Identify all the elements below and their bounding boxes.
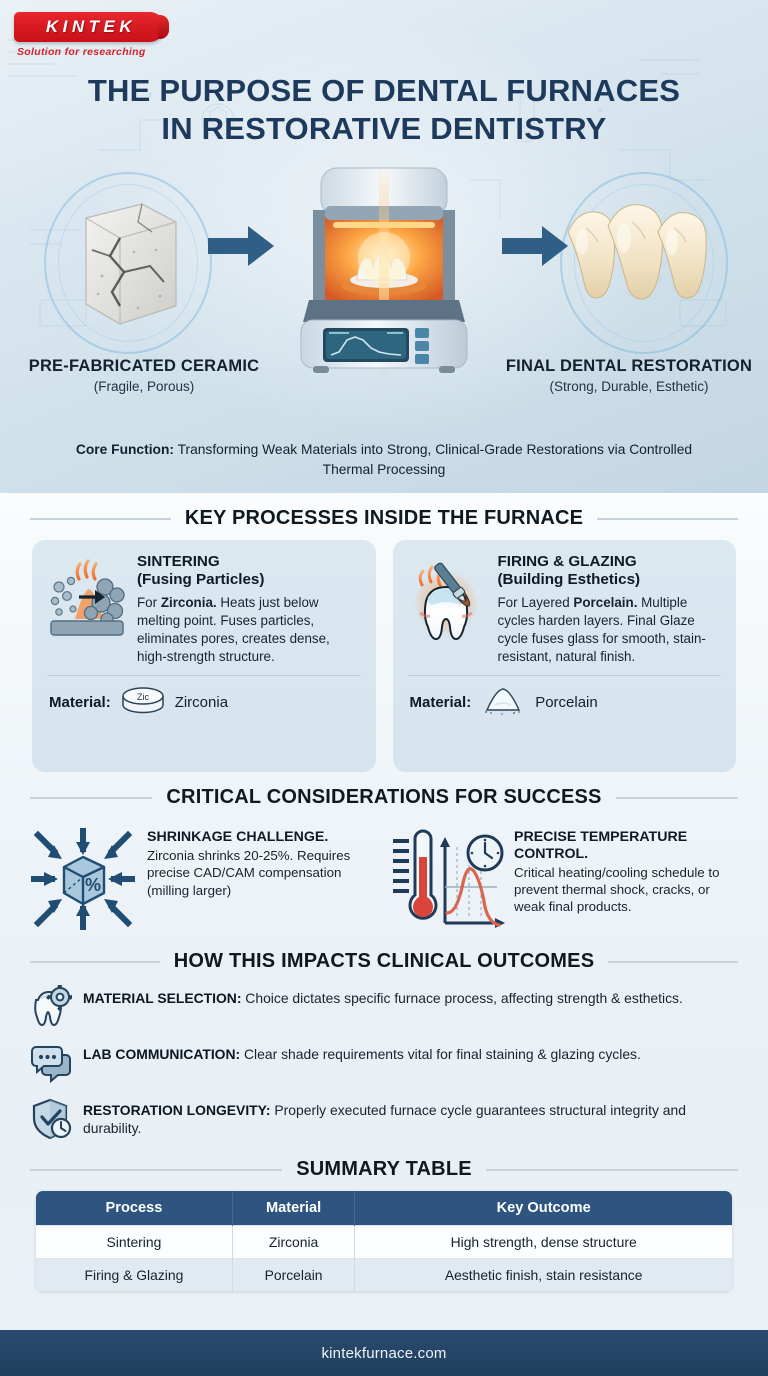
process-card-sintering: SINTERING (Fusing Particles) For Zirconi… <box>32 540 376 772</box>
footer-url[interactable]: kintekfurnace.com <box>321 1345 446 1362</box>
right-subcaption: (Strong, Durable, Esthetic) <box>504 379 754 394</box>
right-caption-block: FINAL DENTAL RESTORATION (Strong, Durabl… <box>504 356 754 394</box>
cell-material: Porcelain <box>232 1259 354 1292</box>
material-label: Material: <box>49 694 111 711</box>
summary-heading: SUMMARY TABLE <box>296 1158 472 1181</box>
divider-line-left <box>30 1169 282 1171</box>
considerations-heading: CRITICAL CONSIDERATIONS FOR SUCCESS <box>166 786 601 809</box>
sintering-body-bold: Zirconia. <box>161 595 217 610</box>
transform-arrow-left-icon <box>208 224 274 268</box>
transform-arrow-right-icon <box>502 224 568 268</box>
table-row: Sintering Zirconia High strength, dense … <box>36 1226 732 1259</box>
restoration-longevity-text: RESTORATION LONGEVITY: Properly executed… <box>83 1097 738 1138</box>
sintering-body: For Zirconia. Heats just below melting p… <box>137 594 363 665</box>
cell-key-outcome: High strength, dense structure <box>355 1226 732 1259</box>
table-header-row: Process Material Key Outcome <box>36 1191 732 1226</box>
divider-line-left <box>30 797 152 799</box>
divider-line-right <box>616 797 738 799</box>
material-selection-text: MATERIAL SELECTION: Choice dictates spec… <box>83 985 738 1007</box>
section-header-summary: SUMMARY TABLE <box>0 1158 768 1181</box>
restoration-longevity-label: RESTORATION LONGEVITY: <box>83 1102 271 1118</box>
material-selection-body: Choice dictates specific furnace process… <box>241 990 682 1006</box>
left-subcaption: (Fragile, Porous) <box>24 379 264 394</box>
outcomes-list: MATERIAL SELECTION: Choice dictates spec… <box>0 983 768 1144</box>
sintering-title-line-2: (Fusing Particles) <box>137 571 363 589</box>
divider-line-left <box>30 961 160 963</box>
firing-title: FIRING & GLAZING (Building Esthetics) <box>498 553 724 589</box>
page-title: THE PURPOSE OF DENTAL FURNACES IN RESTOR… <box>0 72 768 148</box>
final-restoration-teeth-icon <box>562 198 712 328</box>
divider-line-right <box>486 1169 738 1171</box>
left-caption: PRE-FABRICATED CERAMIC <box>24 356 264 376</box>
material-label: Material: <box>410 694 472 711</box>
logo-badge: KINTEK <box>14 12 164 42</box>
core-function-text: Transforming Weak Materials into Strong,… <box>174 442 692 477</box>
outcome-restoration-longevity: RESTORATION LONGEVITY: Properly executed… <box>30 1097 738 1144</box>
cracked-ceramic-block-icon <box>68 196 188 331</box>
column-header-material: Material <box>232 1191 354 1226</box>
firing-title-line-2: (Building Esthetics) <box>498 571 724 589</box>
left-caption-block: PRE-FABRICATED CERAMIC (Fragile, Porous) <box>24 356 264 394</box>
temperature-body: Critical heating/cooling schedule to pre… <box>514 864 740 916</box>
shrinkage-body: Zirconia shrinks 20-25%. Requires precis… <box>147 847 379 899</box>
outcomes-heading: HOW THIS IMPACTS CLINICAL OUTCOMES <box>174 950 595 973</box>
lab-communication-text: LAB COMMUNICATION: Clear shade requireme… <box>83 1041 738 1063</box>
hero-illustration <box>0 168 768 358</box>
firing-body-bold: Porcelain. <box>573 595 637 610</box>
core-function-label: Core Function: <box>76 442 174 457</box>
porcelain-powder-icon <box>480 685 526 720</box>
shrinkage-title: SHRINKAGE CHALLENGE. <box>147 829 379 846</box>
cell-process: Firing & Glazing <box>36 1259 232 1292</box>
column-header-key-outcome: Key Outcome <box>355 1191 732 1226</box>
outcome-lab-communication: LAB COMMUNICATION: Clear shade requireme… <box>30 1041 738 1088</box>
temperature-title-line-2: CONTROL. <box>514 846 588 862</box>
processes-heading: KEY PROCESSES INSIDE THE FURNACE <box>185 507 583 530</box>
temperature-title-line-1: PRECISE TEMPERATURE <box>514 829 687 845</box>
sintering-material-row: Material: Zic Zirconia <box>45 676 363 722</box>
process-cards: SINTERING (Fusing Particles) For Zirconi… <box>0 540 768 772</box>
firing-body-pre: For Layered <box>498 595 574 610</box>
title-line-1: THE PURPOSE OF DENTAL FURNACES <box>20 72 748 110</box>
firing-title-line-1: FIRING & GLAZING <box>498 553 637 570</box>
consideration-temperature: PRECISE TEMPERATURE CONTROL. Critical he… <box>389 823 740 936</box>
sintering-title-line-1: SINTERING <box>137 553 220 570</box>
logo-tagline: Solution for researching <box>14 46 174 58</box>
temperature-title: PRECISE TEMPERATURE CONTROL. <box>514 829 740 863</box>
footer-bar: kintekfurnace.com <box>0 1330 768 1376</box>
considerations-list: % SHRINKAGE CHALLENGE. Zirconia shrinks … <box>0 819 768 936</box>
cell-key-outcome: Aesthetic finish, stain resistance <box>355 1259 732 1292</box>
sintering-particles-icon <box>45 553 129 666</box>
lab-communication-body: Clear shade requirements vital for final… <box>240 1046 641 1062</box>
divider-line-right <box>608 961 738 963</box>
sintering-material-value: Zirconia <box>175 694 228 711</box>
puck-label: Zic <box>137 692 149 702</box>
cell-process: Sintering <box>36 1226 232 1259</box>
infographic-page: KINTEK Solution for researching THE PURP… <box>0 0 768 1376</box>
dental-furnace-icon <box>279 162 489 377</box>
table-row: Firing & Glazing Porcelain Aesthetic fin… <box>36 1259 732 1292</box>
summary-table-wrap: Process Material Key Outcome Sintering Z… <box>0 1191 768 1291</box>
thermometer-curve-clock-icon <box>389 823 505 936</box>
chat-bubbles-icon <box>30 1041 72 1088</box>
zirconia-puck-icon: Zic <box>120 685 166 720</box>
section-header-outcomes: HOW THIS IMPACTS CLINICAL OUTCOMES <box>0 950 768 973</box>
shield-check-clock-icon <box>30 1097 72 1144</box>
divider-line-right <box>597 518 738 520</box>
logo-wordmark: KINTEK <box>42 17 136 37</box>
process-card-firing-glazing: FIRING & GLAZING (Building Esthetics) Fo… <box>393 540 737 772</box>
lab-communication-label: LAB COMMUNICATION: <box>83 1046 240 1062</box>
title-line-2: IN RESTORATIVE DENTISTRY <box>20 110 748 148</box>
right-caption: FINAL DENTAL RESTORATION <box>504 356 754 376</box>
section-header-considerations: CRITICAL CONSIDERATIONS FOR SUCCESS <box>0 786 768 809</box>
firing-body: For Layered Porcelain. Multiple cycles h… <box>498 594 724 665</box>
sintering-title: SINTERING (Fusing Particles) <box>137 553 363 589</box>
cell-material: Zirconia <box>232 1226 354 1259</box>
material-selection-label: MATERIAL SELECTION: <box>83 990 241 1006</box>
outcome-material-selection: MATERIAL SELECTION: Choice dictates spec… <box>30 985 738 1032</box>
tooth-gear-icon <box>30 985 72 1032</box>
section-header-processes: KEY PROCESSES INSIDE THE FURNACE <box>0 507 768 530</box>
tooth-brush-glaze-icon <box>406 553 490 666</box>
firing-material-row: Material: Porcelain <box>406 676 724 722</box>
core-function-statement: Core Function: Transforming Weak Materia… <box>0 440 768 479</box>
divider-line-left <box>30 518 171 520</box>
shrinking-cube-icon: % <box>28 823 138 936</box>
kintek-logo: KINTEK Solution for researching <box>14 12 174 58</box>
sintering-body-pre: For <box>137 595 161 610</box>
hero-section: KINTEK Solution for researching THE PURP… <box>0 0 768 493</box>
column-header-process: Process <box>36 1191 232 1226</box>
summary-table: Process Material Key Outcome Sintering Z… <box>36 1191 732 1291</box>
content-body: KEY PROCESSES INSIDE THE FURNACE <box>0 493 768 1330</box>
cube-percent-symbol: % <box>85 875 101 895</box>
consideration-shrinkage: % SHRINKAGE CHALLENGE. Zirconia shrinks … <box>28 823 379 936</box>
firing-material-value: Porcelain <box>535 694 598 711</box>
